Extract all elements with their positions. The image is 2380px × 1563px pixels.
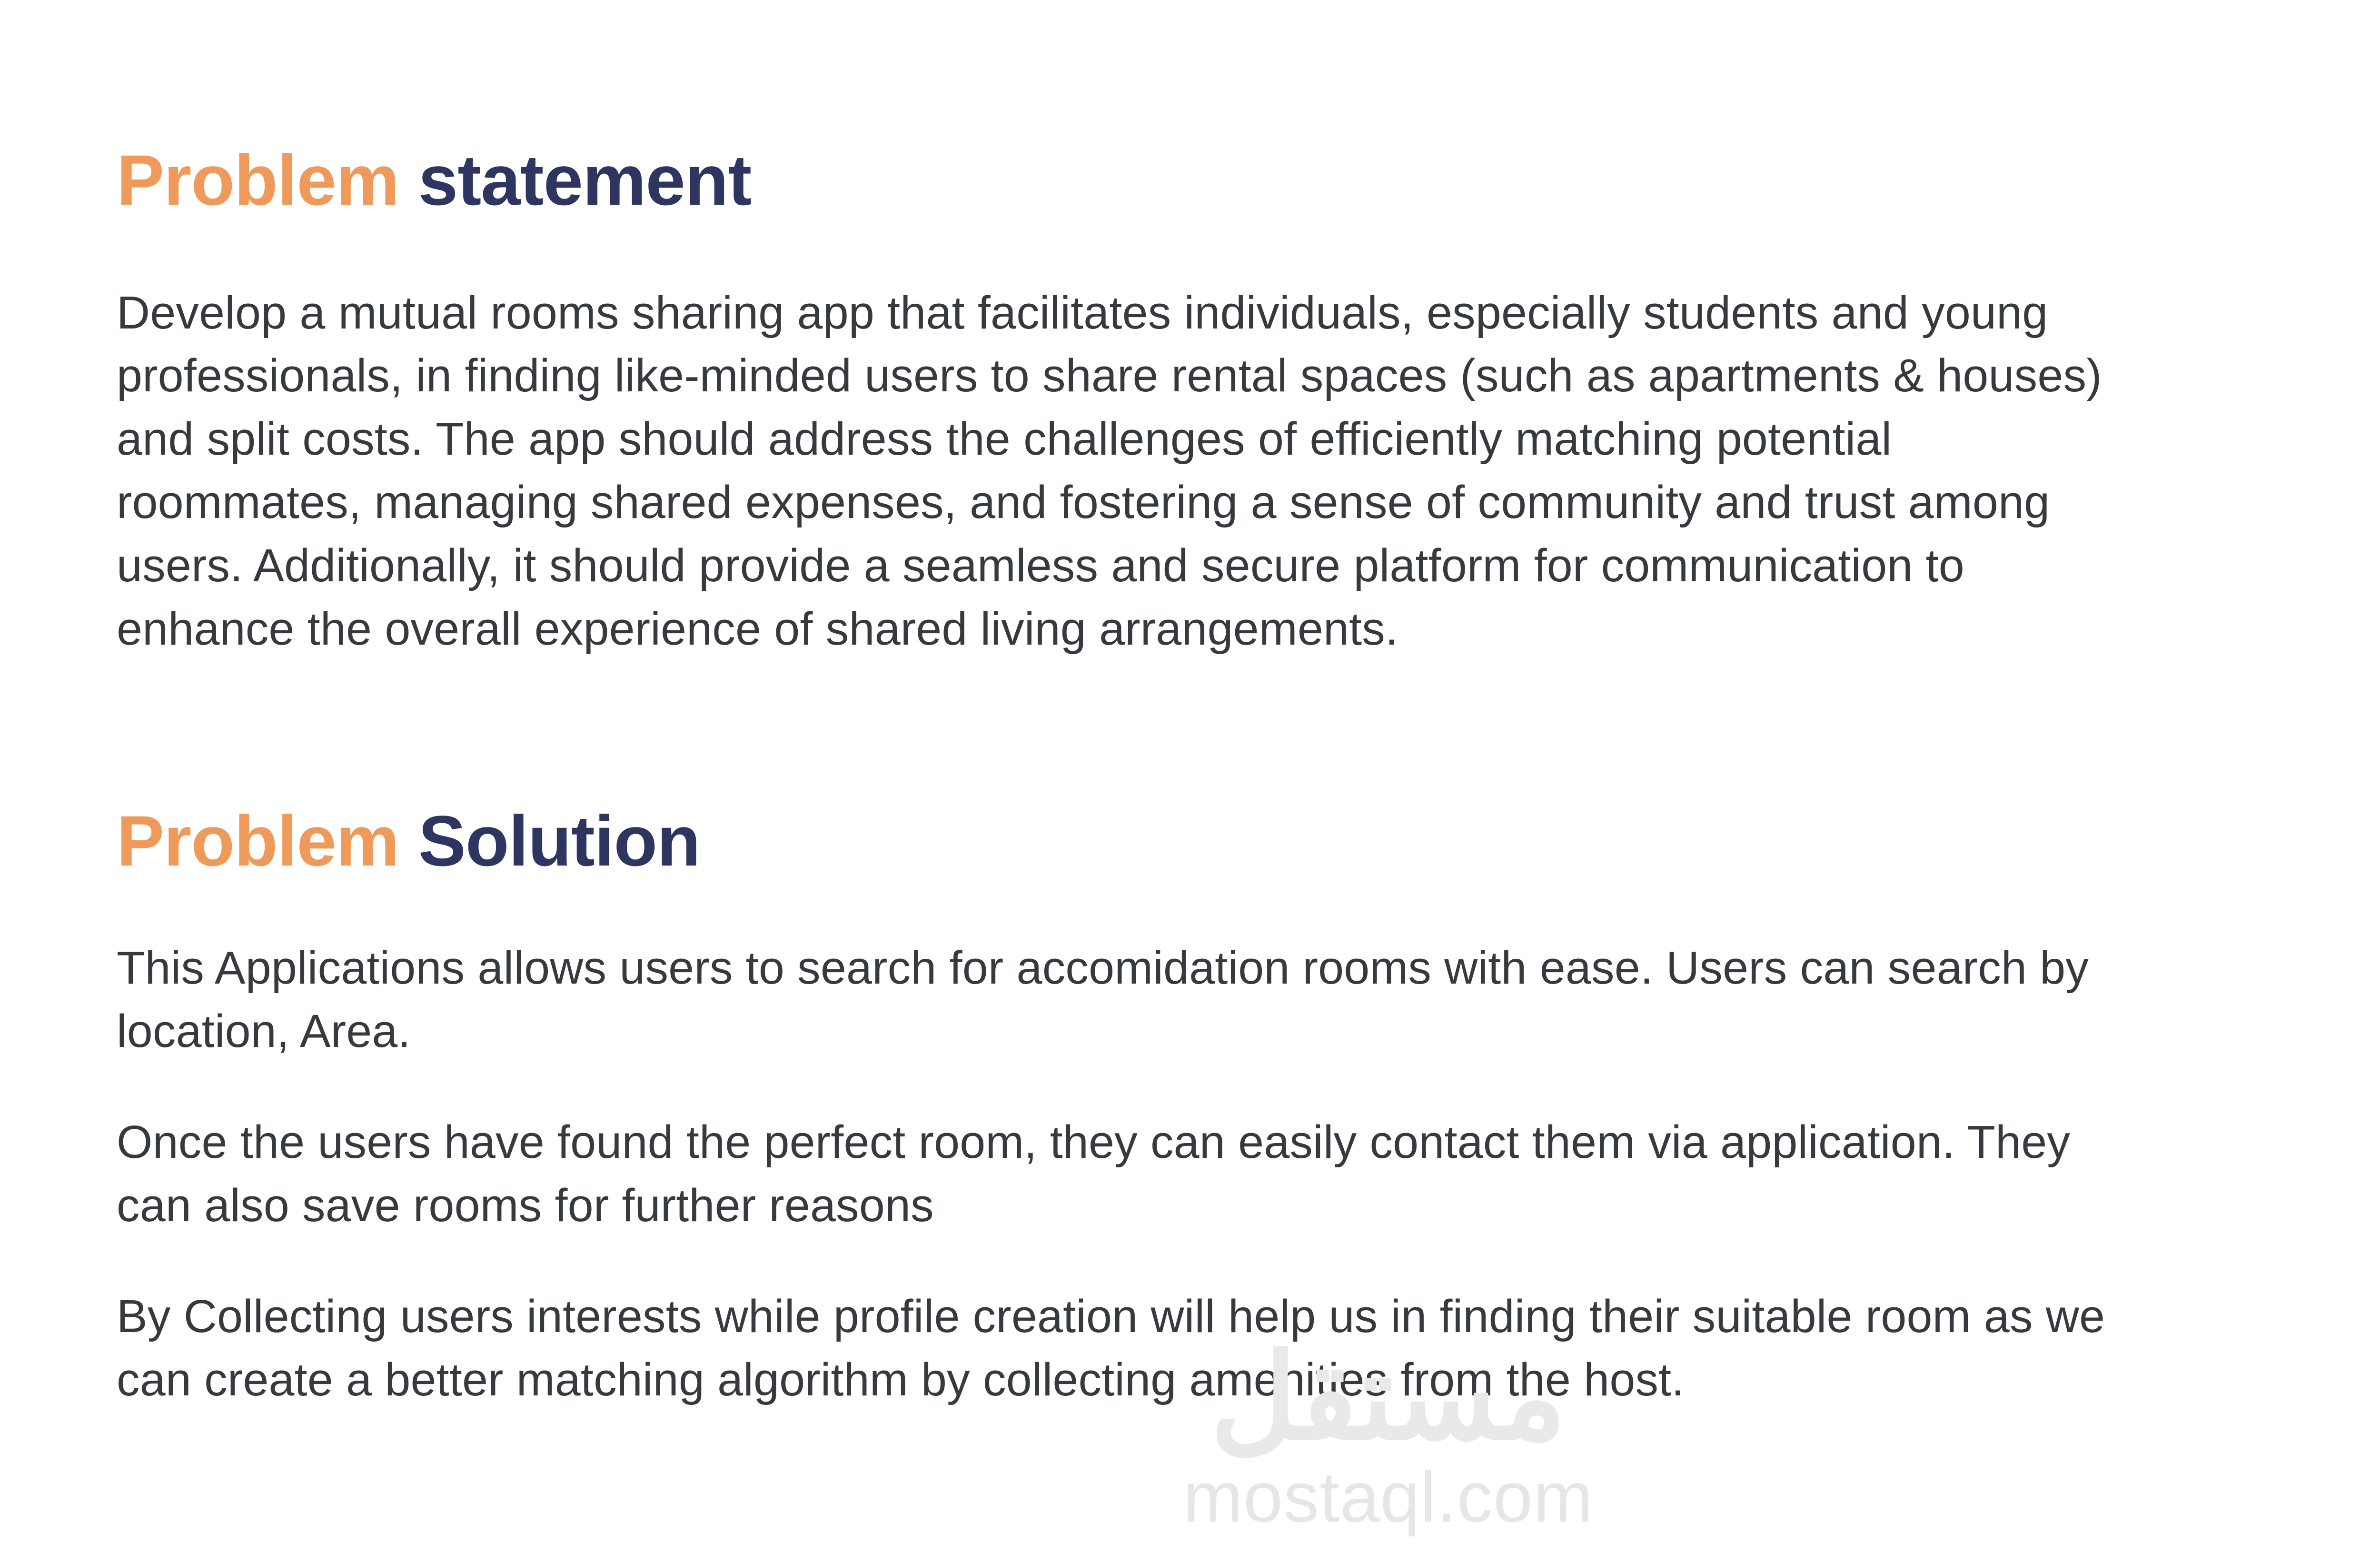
solution-paragraph-block-1: This Applications allows users to search… <box>117 936 2140 1063</box>
solution-paragraph-2: Once the users have found the perfect ro… <box>117 1111 2116 1237</box>
solution-paragraph-3: By Collecting users interests while prof… <box>117 1285 2116 1412</box>
problem-solution-heading-main: Solution <box>418 801 700 881</box>
problem-statement-body: Develop a mutual rooms sharing app that … <box>117 281 2130 661</box>
problem-statement-heading: Problem statement <box>117 143 2140 218</box>
problem-solution-heading-accent: Problem <box>117 801 399 881</box>
mostaql-watermark-domain: mostaql.com <box>1183 1460 1593 1535</box>
problem-statement-heading-accent: Problem <box>117 140 399 220</box>
problem-solution-heading: Problem Solution <box>117 804 2140 879</box>
solution-paragraph-1: This Applications allows users to search… <box>117 936 2116 1063</box>
problem-statement-heading-main: statement <box>418 140 752 220</box>
content-container: Problem statement Develop a mutual rooms… <box>117 0 2140 1412</box>
solution-paragraph-block-3: By Collecting users interests while prof… <box>117 1285 2140 1412</box>
slide-canvas: Problem statement Develop a mutual rooms… <box>0 0 2380 1563</box>
solution-paragraph-block-2: Once the users have found the perfect ro… <box>117 1111 2140 1237</box>
